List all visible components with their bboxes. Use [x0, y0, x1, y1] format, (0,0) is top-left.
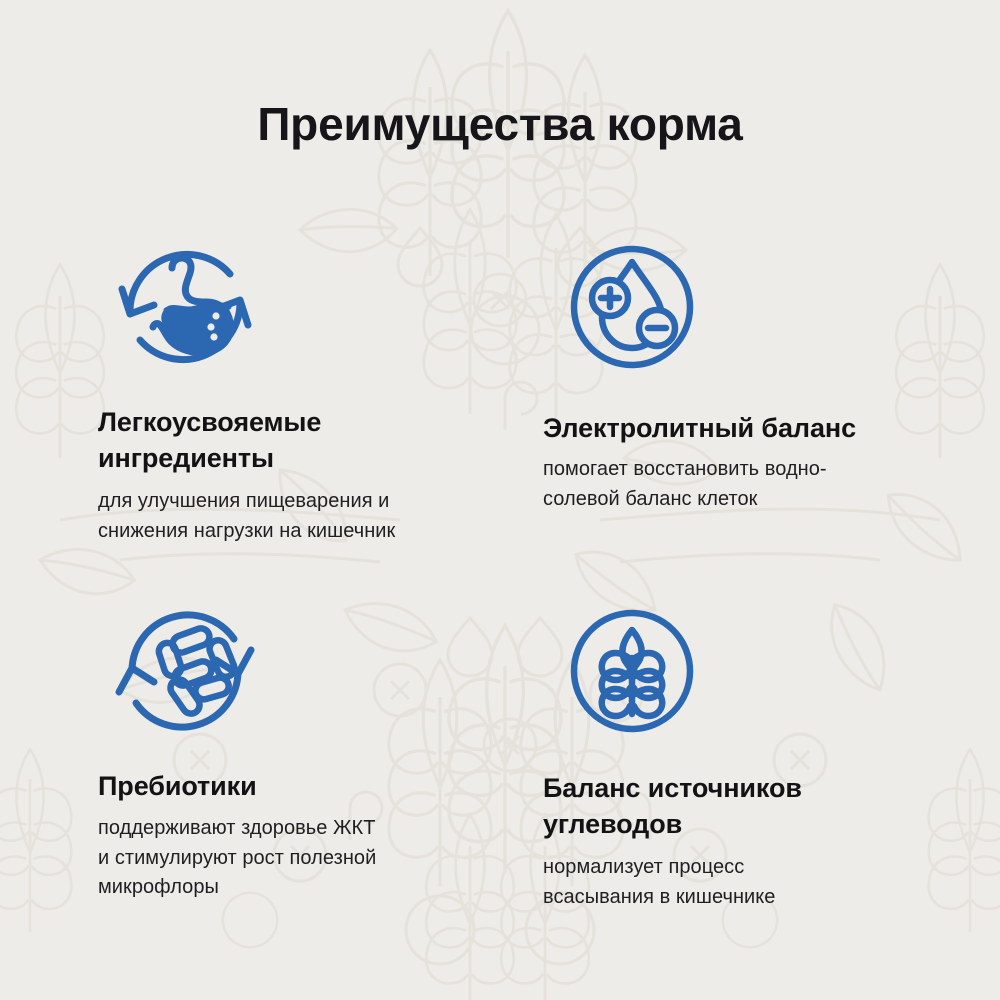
benefit-title: Легкоусвояемые ингредиенты — [98, 404, 518, 476]
benefit-description: для улучшения пищеварения и снижения наг… — [98, 487, 518, 546]
page-title: Преимущества корма — [0, 99, 1000, 150]
benefit-card-digestible: Легкоусвояемые ингредиенты для улучшения… — [98, 232, 518, 547]
infographic-page: Преимущества корма — [0, 0, 1000, 1000]
bacteria-cycle-icon — [110, 596, 260, 746]
benefit-title: Электролитный баланс — [543, 410, 963, 446]
stomach-cycle-icon — [110, 232, 260, 382]
benefit-description: поддерживают здоровье ЖКТ и стимулируют … — [98, 814, 518, 903]
water-drop-electrolyte-icon — [557, 232, 707, 382]
benefit-card-carbohydrates: Баланс источников углеводов нормализует … — [543, 596, 963, 913]
benefit-title: Баланс источников углеводов — [543, 770, 963, 842]
benefit-title: Пребиотики — [98, 768, 518, 804]
benefit-card-electrolyte: Электролитный баланс помогает восстанови… — [543, 232, 963, 514]
benefit-description: помогает восстановить водно- солевой бал… — [543, 455, 963, 514]
benefit-card-prebiotics: Пребиотики поддерживают здоровье ЖКТ и с… — [98, 596, 518, 903]
wheat-ear-circle-icon — [557, 596, 707, 746]
benefit-description: нормализует процесс всасывания в кишечни… — [543, 853, 963, 912]
